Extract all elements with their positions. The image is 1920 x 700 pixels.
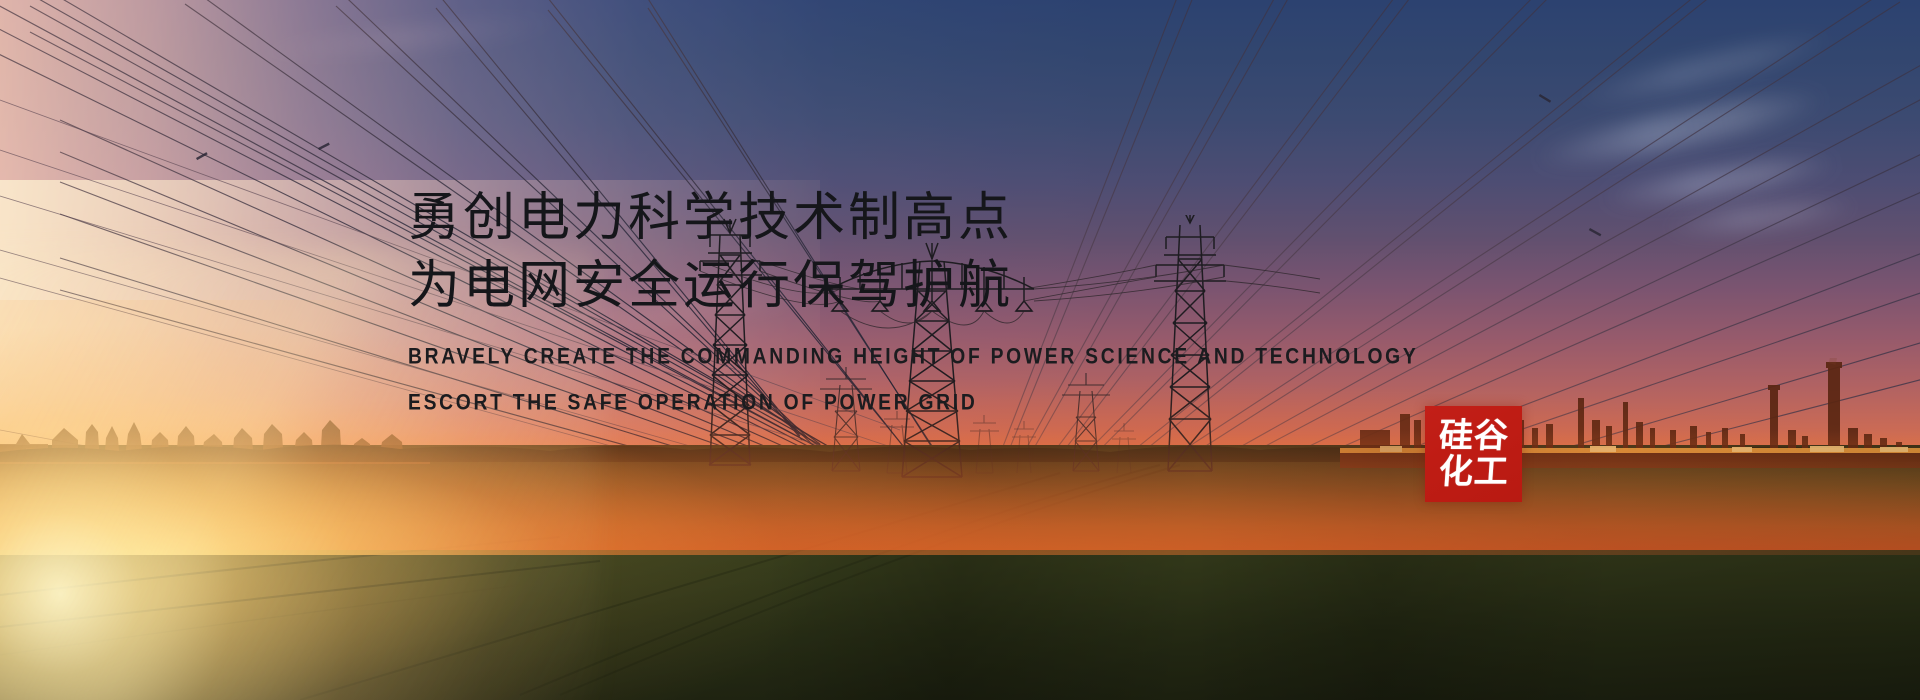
banner-copy-block: 勇创电力科学技术制高点 为电网安全运行保驾护航 BRAVELY CREATE T…	[408, 185, 1468, 415]
subheadline-line-1: BRAVELY CREATE THE COMMANDING HEIGHT OF …	[408, 344, 1404, 370]
logo-text-row-1: 硅谷	[1437, 419, 1509, 454]
power-grid-hero-banner: 勇创电力科学技术制高点 为电网安全运行保驾护航 BRAVELY CREATE T…	[0, 0, 1920, 700]
company-logo-seal[interactable]: 硅谷 化工	[1425, 406, 1522, 502]
headline-line-2: 为电网安全运行保驾护航	[408, 253, 1468, 321]
logo-text-row-2: 化工	[1437, 455, 1509, 490]
headline-line-1: 勇创电力科学技术制高点	[408, 185, 1468, 253]
subheadline-line-2: ESCORT THE SAFE OPERATION OF POWER GRID	[408, 390, 1404, 416]
